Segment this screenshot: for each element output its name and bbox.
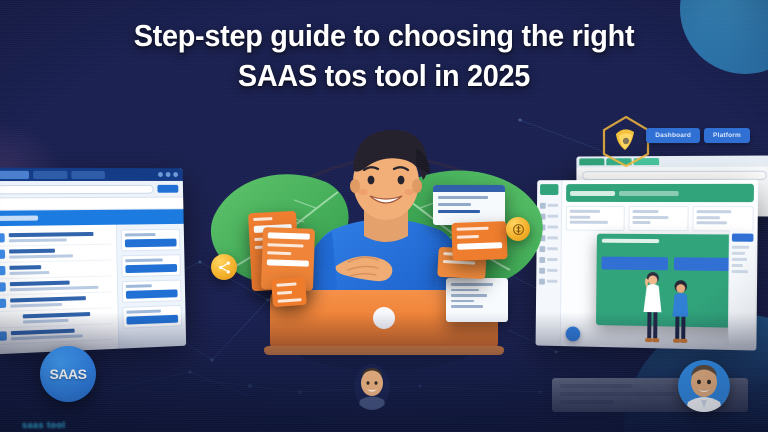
- figure-colleague: [669, 278, 692, 345]
- panel-primary-button[interactable]: [601, 257, 668, 271]
- title-line-2: SAAS tos tool in 2025: [27, 56, 741, 96]
- primary-action-button[interactable]: [126, 289, 178, 298]
- detail-card[interactable]: [122, 280, 182, 303]
- record-icon: [0, 299, 6, 309]
- saas-logo-badge[interactable]: SAAS: [40, 346, 96, 402]
- gold-hex-cube-icon: [599, 114, 653, 168]
- share-network-icon: [217, 260, 232, 275]
- floating-card-orange-4[interactable]: [451, 221, 507, 261]
- window-control-dot[interactable]: [173, 172, 178, 177]
- address-input[interactable]: [582, 171, 767, 180]
- address-input[interactable]: [0, 184, 154, 193]
- coin-icon-badge[interactable]: [506, 217, 530, 241]
- detail-card[interactable]: [122, 305, 182, 329]
- hero-banner: Dashboard Platform: [0, 0, 768, 432]
- record-icon: [0, 282, 6, 291]
- browser-tab-bar: [0, 168, 183, 181]
- window-controls: [158, 172, 178, 177]
- figure-presenter: [641, 270, 664, 344]
- dashboard-main-area: [561, 180, 758, 351]
- coin-icon: [512, 223, 525, 236]
- record-icon: [0, 266, 5, 275]
- record-list: [0, 225, 118, 355]
- panel-title: [602, 239, 659, 243]
- address-bar-row: [0, 181, 183, 199]
- page-title: Step-step guide to choosing the right SA…: [0, 16, 768, 96]
- record-icon: [0, 250, 5, 259]
- browser-tab-1[interactable]: [0, 170, 29, 178]
- save-button[interactable]: [732, 234, 754, 242]
- go-button[interactable]: [157, 185, 178, 193]
- avatar-person-right[interactable]: [678, 360, 730, 412]
- floating-card-orange-3[interactable]: [271, 277, 307, 307]
- avatar-person-center[interactable]: [354, 364, 390, 410]
- floating-card-white-bottom[interactable]: [446, 278, 508, 322]
- primary-action-button[interactable]: [126, 315, 178, 325]
- card-header: [433, 185, 505, 192]
- stats-grid: [566, 206, 754, 231]
- record-icon: [0, 233, 5, 242]
- pill-button-group: Dashboard Platform: [646, 128, 750, 143]
- right-detail-column: [728, 230, 756, 346]
- platform-pill-button[interactable]: Platform: [704, 128, 750, 143]
- primary-action-button[interactable]: [125, 239, 177, 248]
- dashboard-body: [0, 224, 186, 355]
- floating-card-white-top[interactable]: [433, 185, 505, 225]
- window-control-dot[interactable]: [166, 172, 171, 177]
- browser-tab-3[interactable]: [71, 170, 105, 178]
- left-dashboard-window[interactable]: [0, 168, 186, 355]
- dashboard-pill-button[interactable]: Dashboard: [646, 128, 700, 143]
- record-icon: [0, 331, 7, 341]
- panel-actions: [601, 257, 741, 272]
- saas-caption-text: saas tool: [22, 420, 66, 430]
- browser-tab-2[interactable]: [33, 170, 67, 178]
- window-control-dot[interactable]: [158, 172, 163, 177]
- primary-action-button[interactable]: [125, 264, 177, 273]
- title-line-1: Step-step guide to choosing the right: [27, 16, 741, 56]
- stat-card[interactable]: [628, 206, 688, 231]
- list-item[interactable]: [0, 324, 113, 345]
- detail-card[interactable]: [121, 229, 181, 252]
- dashboard-header-banner: [566, 184, 754, 202]
- detail-panel: [116, 224, 186, 349]
- detail-card[interactable]: [121, 254, 181, 277]
- stat-card[interactable]: [692, 206, 753, 231]
- saas-badge-label: SAAS: [50, 366, 87, 382]
- share-network-icon-badge[interactable]: [211, 254, 237, 280]
